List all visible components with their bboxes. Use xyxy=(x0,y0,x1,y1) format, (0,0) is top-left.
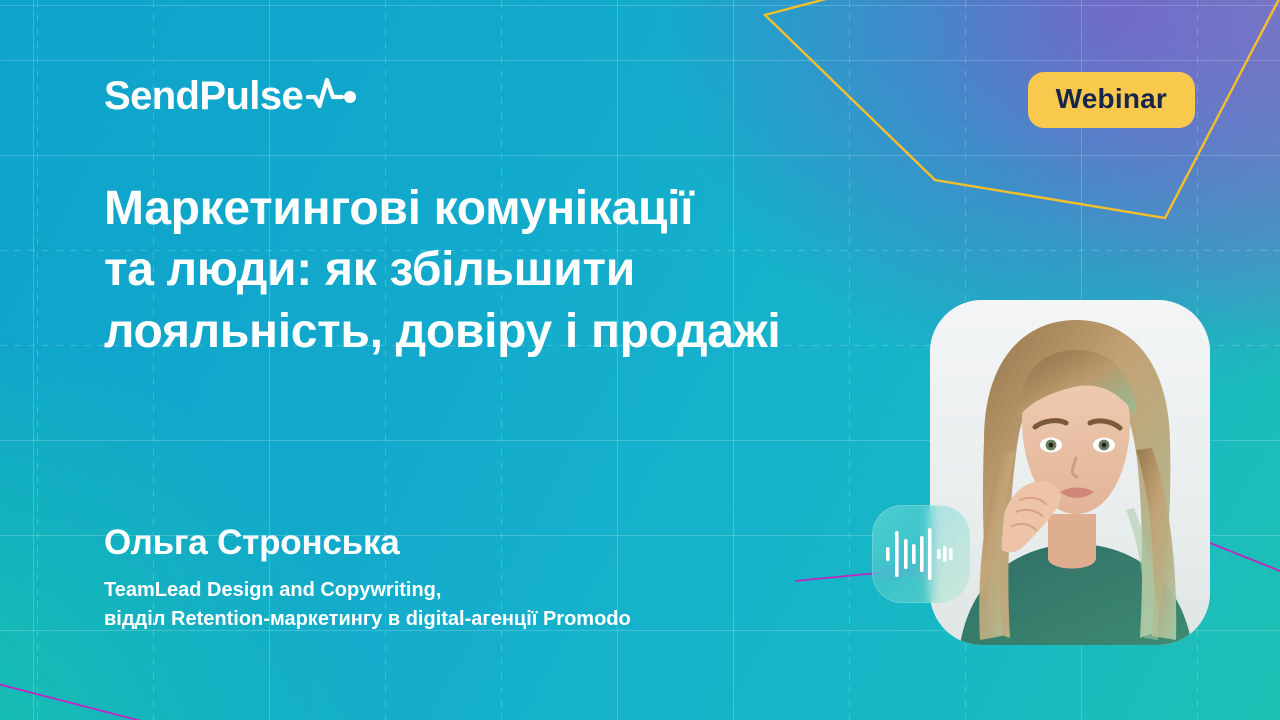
webinar-badge: Webinar xyxy=(1028,72,1195,128)
magenta-diagonal-line xyxy=(0,682,215,720)
logo-wordmark: SendPulse xyxy=(104,76,303,116)
speaker-role: TeamLead Design and Copywriting, відділ … xyxy=(104,576,631,634)
pulse-icon xyxy=(306,76,362,116)
page-title: Маркетингові комунікації та люди: як збі… xyxy=(104,178,904,362)
audio-wave-tile xyxy=(872,505,970,603)
sendpulse-logo: SendPulse xyxy=(104,76,362,116)
audio-waveform-icon xyxy=(884,523,958,585)
speaker-photo-card xyxy=(930,300,1210,645)
speaker-info: Ольга Стронська TeamLead Design and Copy… xyxy=(104,522,631,634)
speaker-portrait xyxy=(930,300,1210,645)
speaker-name: Ольга Стронська xyxy=(104,522,631,564)
webinar-promo-slide: SendPulse Webinar Маркетингові комунікац… xyxy=(0,0,1280,720)
